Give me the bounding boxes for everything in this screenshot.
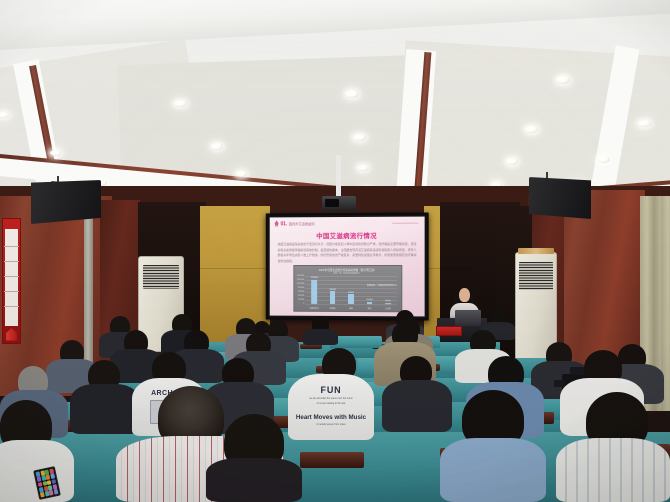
chart-y-tick-label: 400000 xyxy=(298,295,304,297)
chart-y-tick-label: 1400000 xyxy=(297,275,304,277)
chart-gridline xyxy=(305,280,397,281)
chart-bar xyxy=(312,280,317,304)
chart-y-tick-label: 1000000 xyxy=(297,283,304,285)
shirt-fun-line2: we are all under the same roof, but some xyxy=(292,398,370,401)
projector xyxy=(322,196,356,211)
phone-app-grid xyxy=(35,468,58,497)
poster-ribbon-icon xyxy=(6,328,17,340)
chart-bar xyxy=(367,302,373,304)
app-icon xyxy=(53,489,58,495)
presenter-head xyxy=(459,288,470,302)
chart-bar-value-label: 61000 xyxy=(385,300,390,302)
chart-x-tick-label: 肺结核 xyxy=(330,307,336,310)
chart-x-tick-label: 病毒性肝炎 xyxy=(310,307,319,310)
chart-plot-area: 1220000病毒性肝炎639548肺结核479697梅毒112000淋病610… xyxy=(305,276,397,304)
audience-body-front xyxy=(206,458,302,502)
downlight xyxy=(525,126,538,133)
downlight xyxy=(236,171,247,177)
awareness-ribbon-icon xyxy=(275,220,279,227)
chart-bar xyxy=(348,294,354,304)
downlight xyxy=(345,90,359,98)
chart-y-tick-label: 600000 xyxy=(298,291,304,293)
chart-subtitle: 单位：例（按报告发病数统计） xyxy=(294,271,401,274)
downlight xyxy=(357,165,369,171)
downlight xyxy=(598,156,610,163)
chart-bar-value-label: 1220000 xyxy=(311,277,318,279)
downlight xyxy=(211,143,223,150)
armrest xyxy=(300,452,364,468)
slide-content: 01. 国内外艾滋病疫情 中国艾滋病流行情况 我国艾滋病疫情总体处于低流行水平，… xyxy=(270,217,425,317)
chart-x-tick-label: 淋病 xyxy=(368,307,372,310)
shirt-fun-line1: FUN xyxy=(292,385,370,395)
slide-body-text: 我国艾滋病疫情总体处于低流行水平，但部分地区和人群中疫情依然较为严重，性传播是主… xyxy=(278,242,417,264)
downlight xyxy=(506,158,518,165)
shirt-fun-line4: Heart Moves with Music xyxy=(290,414,372,421)
poster-line xyxy=(4,291,18,292)
downlight xyxy=(638,120,651,127)
shirt-fun-line3: of us are looking at the star xyxy=(292,403,370,406)
wall-poster xyxy=(2,218,21,344)
chart-annotation: 数据来源：中国疾病预防控制中心 xyxy=(367,284,397,287)
audience-body xyxy=(70,384,140,434)
ac-top-cap xyxy=(518,248,553,255)
ac-grille xyxy=(519,262,553,291)
chart-x-tick-label: 梅毒 xyxy=(349,307,353,310)
poster-line xyxy=(4,261,18,262)
chart-x-tick-label: 艾滋病 xyxy=(385,307,391,310)
downlight xyxy=(174,100,187,107)
slide-header-rule xyxy=(392,223,418,224)
camera-handle xyxy=(554,380,565,387)
chart-y-tick-label: 1200000 xyxy=(297,279,304,281)
poster-line xyxy=(4,246,18,247)
projection-screen: 01. 国内外艾滋病疫情 中国艾滋病流行情况 我国艾滋病疫情总体处于低流行水平，… xyxy=(266,213,429,321)
poster-inner xyxy=(5,229,19,326)
shirt-fun-line5: A melody woven from notes xyxy=(292,424,370,427)
slide-chart: 2021年全国法定报告传染病病例数（部分甲乙类） 单位：例（按报告发病数统计） … xyxy=(293,265,402,312)
conference-room-photo: 01. 国内外艾滋病疫情 中国艾滋病流行情况 我国艾滋病疫情总体处于低流行水平，… xyxy=(0,0,670,502)
slide-section-header: 01. 国内外艾滋病疫情 xyxy=(275,220,315,227)
audience-shirt-fun xyxy=(288,374,374,440)
audience-body-front xyxy=(440,438,546,502)
chart-gridline xyxy=(305,288,397,289)
downlight xyxy=(556,76,570,84)
speaker-left xyxy=(31,180,101,224)
projector-mast xyxy=(336,155,341,199)
stage-wall-seam-right xyxy=(424,268,472,269)
laptop xyxy=(455,310,481,326)
audience-body xyxy=(382,380,452,432)
chart-bar xyxy=(330,291,335,304)
chart-y-tick-label: 200000 xyxy=(298,299,304,301)
podium-sign xyxy=(436,326,462,336)
stage-wall-seam xyxy=(200,268,270,269)
audience-body xyxy=(303,329,338,345)
ceiling-soffit xyxy=(0,0,670,52)
chart-bar-value-label: 112000 xyxy=(366,299,372,301)
slide-section-label: 国内外艾滋病疫情 xyxy=(289,221,315,226)
ac-grille xyxy=(143,265,180,289)
downlight xyxy=(353,134,366,141)
chart-bar-value-label: 479697 xyxy=(348,292,354,294)
poster-line xyxy=(4,306,18,307)
chart-bar-value-label: 639548 xyxy=(329,289,335,291)
slide-title: 中国艾滋病流行情况 xyxy=(270,231,425,241)
slide-section-number: 01. xyxy=(281,221,287,227)
downlight xyxy=(50,150,61,156)
poster-line xyxy=(4,276,18,277)
chart-y-tick-label: 0 xyxy=(303,303,304,305)
chart-y-tick-label: 800000 xyxy=(298,287,304,289)
speaker-right xyxy=(529,177,591,219)
chart-y-axis: 1400000120000010000008000006000004000002… xyxy=(295,276,305,304)
audience-shirt-checked xyxy=(556,438,670,502)
chart-bar xyxy=(385,303,391,304)
